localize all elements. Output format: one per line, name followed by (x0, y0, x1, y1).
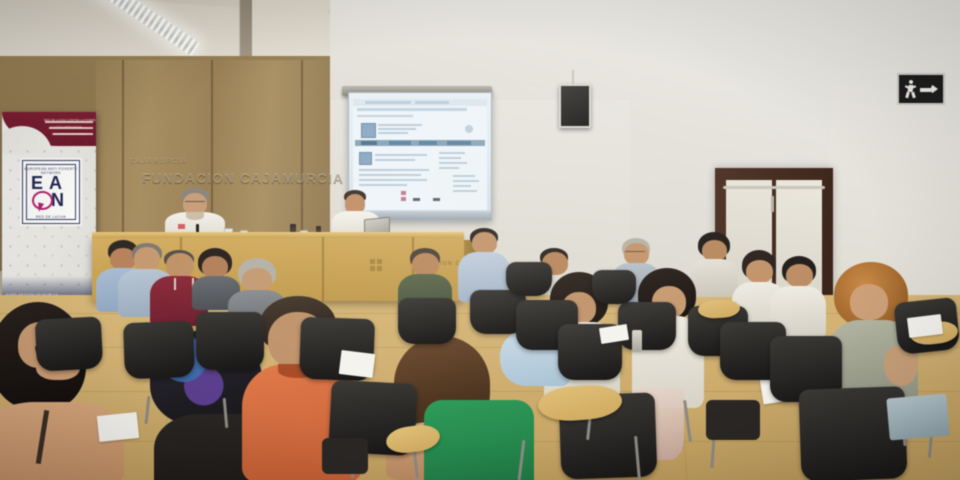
banner-header-line-2: Y LA EXCLUSION SOCIAL (50, 126, 83, 129)
audience-chair[interactable] (592, 270, 636, 304)
emergency-exit-sign (897, 73, 945, 105)
audience-chair[interactable] (398, 298, 456, 344)
eyeglasses-icon (625, 251, 645, 255)
handout-paper[interactable] (97, 412, 139, 442)
audience-chair[interactable] (123, 321, 195, 379)
banner-header-line-1: RED DE LUCHA CONTRA LA POBREZA (44, 119, 96, 122)
door-handle[interactable] (771, 196, 774, 212)
audience-chair[interactable] (506, 262, 552, 296)
handbag[interactable] (322, 438, 368, 474)
folder[interactable] (886, 393, 949, 440)
handout-paper[interactable] (907, 314, 943, 338)
eapn-logo: EUROPEAN ANTI POVERTY NETWORK E A N RED … (22, 160, 80, 224)
shirt-collar (186, 212, 204, 220)
eapn-logo-caption-bottom: RED DE LUCHA (23, 215, 79, 219)
wall-speaker (559, 84, 591, 128)
handout-paper[interactable] (339, 350, 376, 378)
audience-chair[interactable] (196, 312, 264, 370)
arrow-right-icon (920, 84, 938, 95)
lanyard (174, 278, 194, 290)
water-bottle-floor[interactable] (632, 330, 642, 352)
wall-brand-small: CAJAMURCIA (130, 158, 187, 165)
wall-brand-large: FUNDACION CAJAMURCIA (142, 170, 344, 186)
audience-chair[interactable] (35, 316, 104, 371)
running-person-icon (904, 80, 918, 98)
conference-room-photo: CAJAMURCIA FUNDACION CAJAMURCIA RED DE L… (0, 0, 960, 480)
eapn-rollup-banner: RED DE LUCHA CONTRA LA POBREZA Y LA EXCL… (2, 112, 96, 302)
door-push-bar[interactable] (723, 186, 825, 189)
eyeglasses-icon (185, 201, 205, 205)
banner-header-line-3: DE LA REGION DE MURCIA (52, 133, 87, 136)
badge (178, 224, 185, 229)
venue-logo-icon (370, 259, 386, 273)
eapn-letter-e: E (31, 174, 43, 192)
green-dress (424, 400, 534, 480)
handbag[interactable] (706, 400, 760, 440)
